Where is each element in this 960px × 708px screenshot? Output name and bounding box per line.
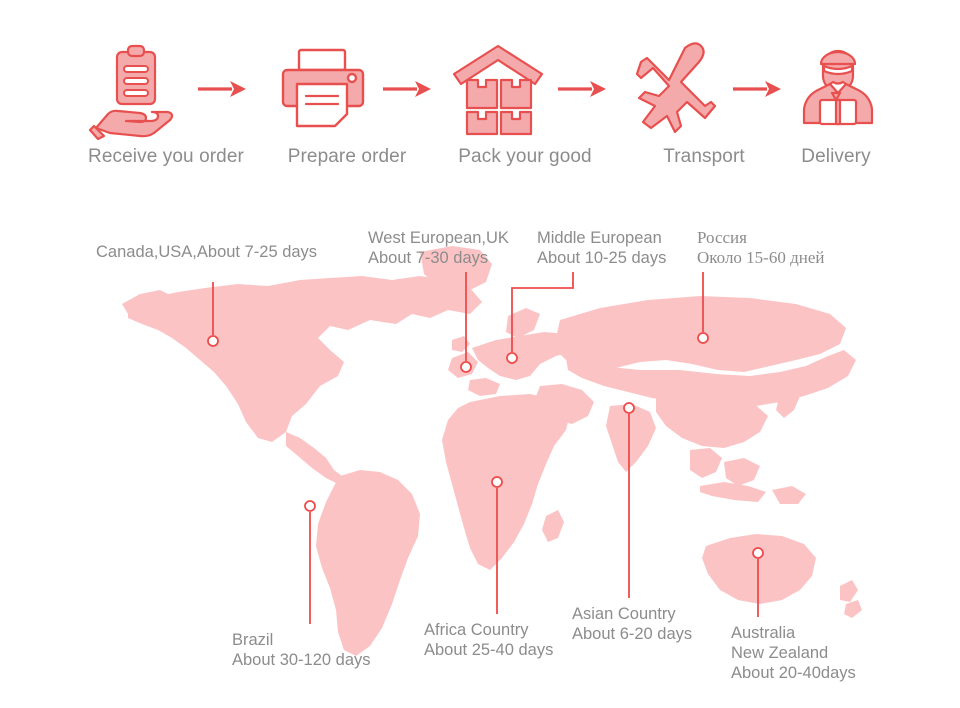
clipboard-on-hand-icon (88, 40, 184, 140)
arrow-right-icon (731, 78, 783, 105)
callout-australia-new-zealand: Australia New Zealand About 20-40days (731, 623, 856, 683)
arrow-right-icon (556, 78, 608, 105)
callout-line: Africa Country (424, 620, 553, 640)
callout-line: Около 15-60 дней (697, 248, 824, 268)
airplane-icon (625, 40, 721, 140)
process-step-pack-good: Pack your good (450, 40, 546, 140)
process-step-label: Receive you order (88, 146, 244, 168)
process-step-delivery: Delivery (790, 40, 886, 140)
process-step-prepare-order: Prepare order (275, 40, 371, 140)
process-flow: Receive you order Prepar (0, 0, 960, 180)
callout-line: Brazil (232, 630, 371, 650)
arrow-right-icon (381, 78, 433, 105)
process-step-receive-order: Receive you order (88, 40, 184, 140)
printer-icon (275, 40, 371, 140)
callout-line: Middle European (537, 228, 666, 248)
callout-west-european-uk: West European,UK About 7-30 days (368, 228, 509, 268)
callout-line: Россия (697, 228, 824, 248)
connector-brazil (305, 501, 315, 624)
callout-line: About 7-30 days (368, 248, 509, 268)
callout-middle-european: Middle European About 10-25 days (537, 228, 666, 268)
process-step-transport: Transport (625, 40, 721, 140)
callout-canada-usa: Canada,USA,About 7-25 days (96, 242, 317, 262)
callout-line: About 10-25 days (537, 248, 666, 268)
callout-line: West European,UK (368, 228, 509, 248)
callout-line: Australia (731, 623, 856, 643)
callout-africa-country: Africa Country About 25-40 days (424, 620, 553, 660)
process-step-label: Transport (663, 146, 745, 168)
callout-line: About 30-120 days (232, 650, 371, 670)
process-step-label: Delivery (801, 146, 870, 168)
callout-brazil: Brazil About 30-120 days (232, 630, 371, 670)
landmass-group (122, 246, 862, 656)
callout-line: About 20-40days (731, 663, 856, 683)
callout-asian-country: Asian Country About 6-20 days (572, 604, 692, 644)
packing-boxes-icon (450, 40, 546, 140)
courier-person-icon (790, 40, 886, 140)
process-step-label: Pack your good (458, 146, 591, 168)
callout-russia: Россия Около 15-60 дней (697, 228, 824, 268)
world-map-section: Canada,USA,About 7-25 days West European… (0, 180, 960, 708)
arrow-right-icon (196, 78, 248, 105)
shipping-infographic: Receive you order Prepar (0, 0, 960, 708)
callout-line: Canada,USA,About 7-25 days (96, 242, 317, 262)
callout-line: Asian Country (572, 604, 692, 624)
callout-line: New Zealand (731, 643, 856, 663)
process-step-label: Prepare order (288, 146, 407, 168)
callout-line: About 6-20 days (572, 624, 692, 644)
callout-line: About 25-40 days (424, 640, 553, 660)
